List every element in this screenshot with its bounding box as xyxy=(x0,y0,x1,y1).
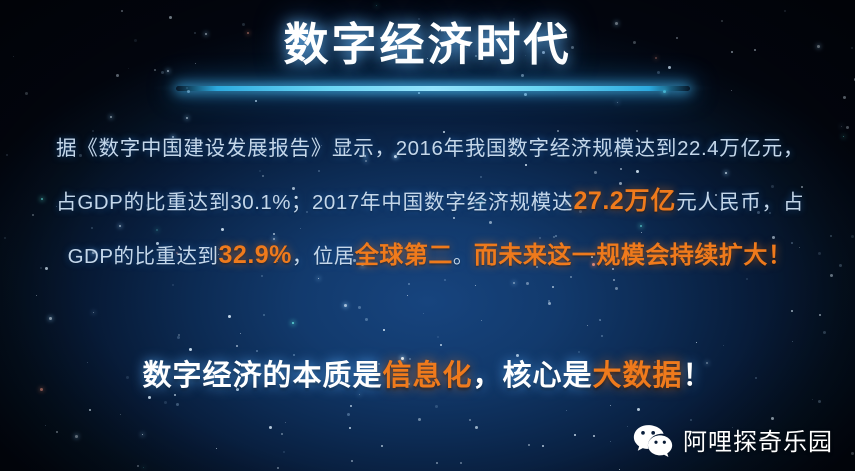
highlight-future-growth: 而未来这一规模会持续扩大！ xyxy=(474,242,793,269)
conclusion-part-2: ，核心是 xyxy=(472,360,592,392)
highlight-27-2-trillion: 27.2万亿 xyxy=(574,187,677,215)
conclusion-highlight-informatization: 信息化 xyxy=(382,360,472,392)
conclusion-line: 数字经济的本质是信息化，核心是大数据！ xyxy=(0,352,855,394)
title-divider xyxy=(176,86,690,91)
page-title: 数字经济时代 xyxy=(0,18,855,71)
body-segment-4: 。 xyxy=(453,245,474,268)
slide-canvas: 数字经济时代 据《数字中国建设发展报告》显示，2016年我国数字经济规模达到22… xyxy=(0,0,855,471)
wechat-icon xyxy=(633,423,673,457)
conclusion-highlight-big-data: 大数据 xyxy=(593,360,683,392)
body-segment-3: ，位居 xyxy=(292,245,355,268)
conclusion-part-1: 数字经济的本质是 xyxy=(142,360,382,392)
title-block: 数字经济时代 xyxy=(0,18,855,71)
conclusion-part-3: ！ xyxy=(683,360,713,392)
body-paragraph: 据《数字中国建设发展报告》显示，2016年我国数字经济规模达到22.4万亿元，占… xyxy=(56,122,804,283)
highlight-32-9-percent: 32.9% xyxy=(219,241,292,269)
wechat-watermark: 阿哩探奇乐园 xyxy=(633,422,833,457)
highlight-global-second: 全球第二 xyxy=(355,242,453,269)
wechat-account-name: 阿哩探奇乐园 xyxy=(683,422,833,457)
